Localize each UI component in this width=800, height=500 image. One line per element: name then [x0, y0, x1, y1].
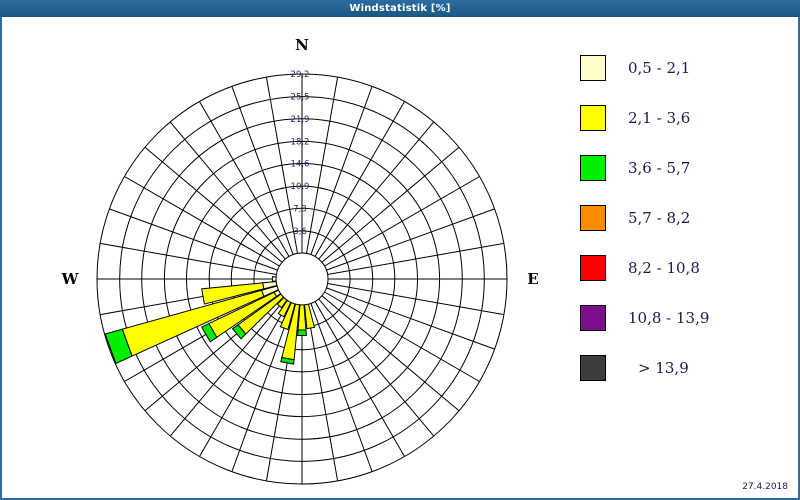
grid-spoke [124, 177, 279, 267]
grid-spoke [315, 302, 405, 457]
legend-item[interactable]: 5,7 - 8,2 [580, 193, 785, 243]
legend-label: 2,1 - 3,6 [628, 109, 690, 127]
legend-swatch [580, 205, 606, 231]
date-stamp: 27.4.2018 [742, 482, 788, 492]
grid-spoke [315, 101, 405, 256]
legend-swatch [580, 155, 606, 181]
radial-tick-label: 21,9 [291, 115, 310, 125]
radial-tick-label: 7,3 [293, 204, 307, 214]
compass-labels: N E S W [61, 36, 539, 498]
wind-rose-window: Windstatistik [%] 3,67,310,914,618,221,9… [0, 0, 800, 500]
grid-spoke [328, 284, 504, 315]
grid-spoke [322, 296, 459, 411]
grid-spoke [109, 209, 277, 270]
legend-label: 3,6 - 5,7 [628, 159, 690, 177]
legend-swatch [580, 305, 606, 331]
wind-rose-petals [105, 277, 314, 364]
radial-tick-label: 14,6 [291, 160, 310, 170]
window-body: 3,67,310,914,618,221,925,529,2 N E S W 0… [0, 17, 800, 500]
compass-label-east: E [527, 270, 538, 288]
radial-tick-label: 25,5 [291, 93, 310, 103]
grid-spoke [319, 299, 434, 436]
grid-spoke [325, 292, 480, 382]
legend-label: 5,7 - 8,2 [628, 209, 690, 227]
radial-tick-label: 3,6 [293, 227, 307, 237]
compass-label-north: N [295, 36, 309, 54]
grid-spoke [145, 147, 282, 262]
grid-spoke [311, 86, 372, 254]
radial-tick-labels: 3,67,310,914,618,221,925,529,2 [291, 70, 310, 237]
legend-item[interactable]: > 13,9 [580, 343, 785, 393]
radial-tick-label: 18,2 [291, 137, 310, 147]
legend-label: 8,2 - 10,8 [628, 259, 700, 277]
grid-spoke [307, 77, 338, 253]
legend-item[interactable]: 3,6 - 5,7 [580, 143, 785, 193]
grid-spoke [326, 288, 494, 349]
grid-spoke [307, 305, 338, 481]
grid-spoke [200, 101, 290, 256]
legend-label: 10,8 - 13,9 [628, 309, 709, 327]
grid-spoke [328, 243, 504, 274]
legend-swatch [580, 255, 606, 281]
grid-spoke [322, 147, 459, 262]
legend: 0,5 - 2,12,1 - 3,63,6 - 5,75,7 - 8,28,2 … [580, 43, 785, 393]
grid-spoke [232, 86, 293, 254]
legend-item[interactable]: 0,5 - 2,1 [580, 43, 785, 93]
legend-swatch [580, 105, 606, 131]
legend-item[interactable]: 2,1 - 3,6 [580, 93, 785, 143]
legend-item[interactable]: 10,8 - 13,9 [580, 293, 785, 343]
legend-swatch [580, 355, 606, 381]
polar-grid [97, 74, 507, 484]
wind-rose-petal-segment [298, 330, 307, 336]
window-titlebar: Windstatistik [%] [0, 0, 800, 17]
radial-tick-label: 29,2 [291, 70, 310, 80]
legend-item[interactable]: 8,2 - 10,8 [580, 243, 785, 293]
wind-rose-petal-segment [272, 277, 276, 282]
compass-label-west: W [61, 270, 80, 288]
grid-spoke [170, 122, 285, 259]
legend-label: 0,5 - 2,1 [628, 59, 690, 77]
legend-label: > 13,9 [628, 359, 689, 377]
grid-spoke [311, 303, 372, 471]
legend-swatch [580, 55, 606, 81]
grid-spoke [326, 209, 494, 270]
grid-spoke [100, 243, 276, 274]
radial-tick-label: 10,9 [291, 182, 310, 192]
grid-spoke [325, 177, 480, 267]
window-title: Windstatistik [%] [349, 3, 450, 14]
grid-spoke [319, 122, 434, 259]
